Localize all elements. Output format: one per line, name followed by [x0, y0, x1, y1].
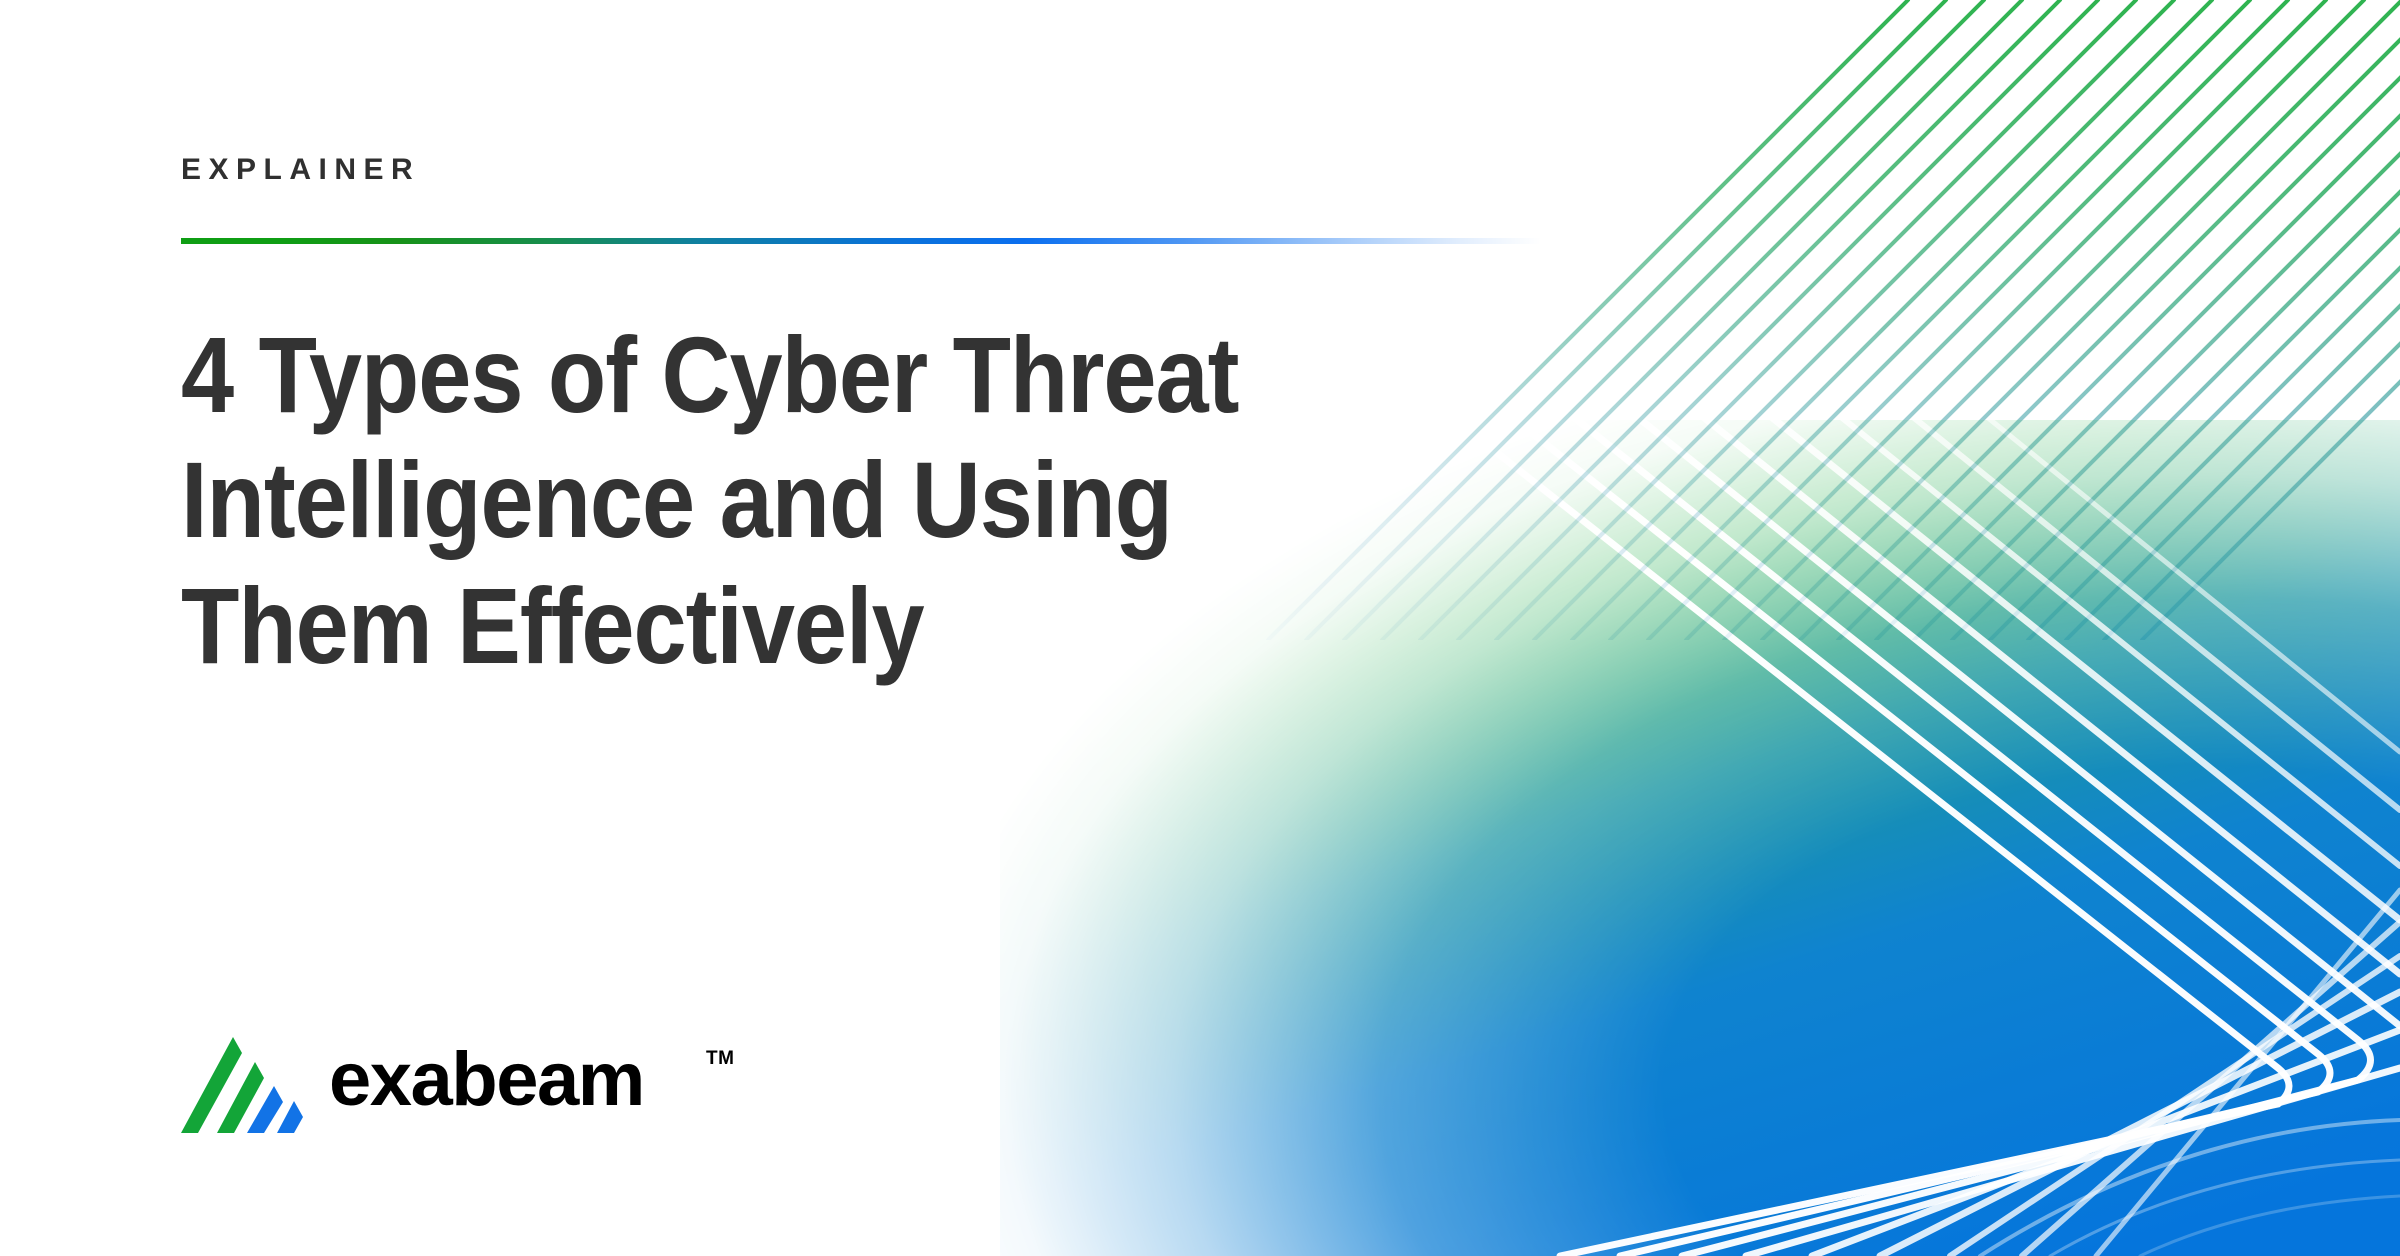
- exabeam-logo-mark: [181, 1035, 303, 1133]
- exabeam-wordmark: exabeam: [329, 1045, 701, 1123]
- page-content: EXPLAINER 4 Types of Cyber Threat Intell…: [0, 0, 1560, 1256]
- exabeam-logo: exabeam TM: [181, 1030, 734, 1138]
- exabeam-wordmark-wrap: exabeam TM: [329, 1045, 734, 1123]
- page-title-line-1: 4 Types of Cyber Threat: [181, 312, 1287, 437]
- page-title: 4 Types of Cyber Threat Intelligence and…: [181, 312, 1287, 688]
- page-title-line-3: Them Effectively: [181, 563, 1287, 688]
- trademark-symbol: TM: [706, 1049, 734, 1068]
- svg-text:exabeam: exabeam: [329, 1045, 644, 1122]
- explainer-cover-page: EXPLAINER 4 Types of Cyber Threat Intell…: [0, 0, 2400, 1256]
- eyebrow-label: EXPLAINER: [181, 155, 420, 185]
- page-title-line-2: Intelligence and Using: [181, 437, 1287, 562]
- gradient-divider: [181, 238, 1541, 244]
